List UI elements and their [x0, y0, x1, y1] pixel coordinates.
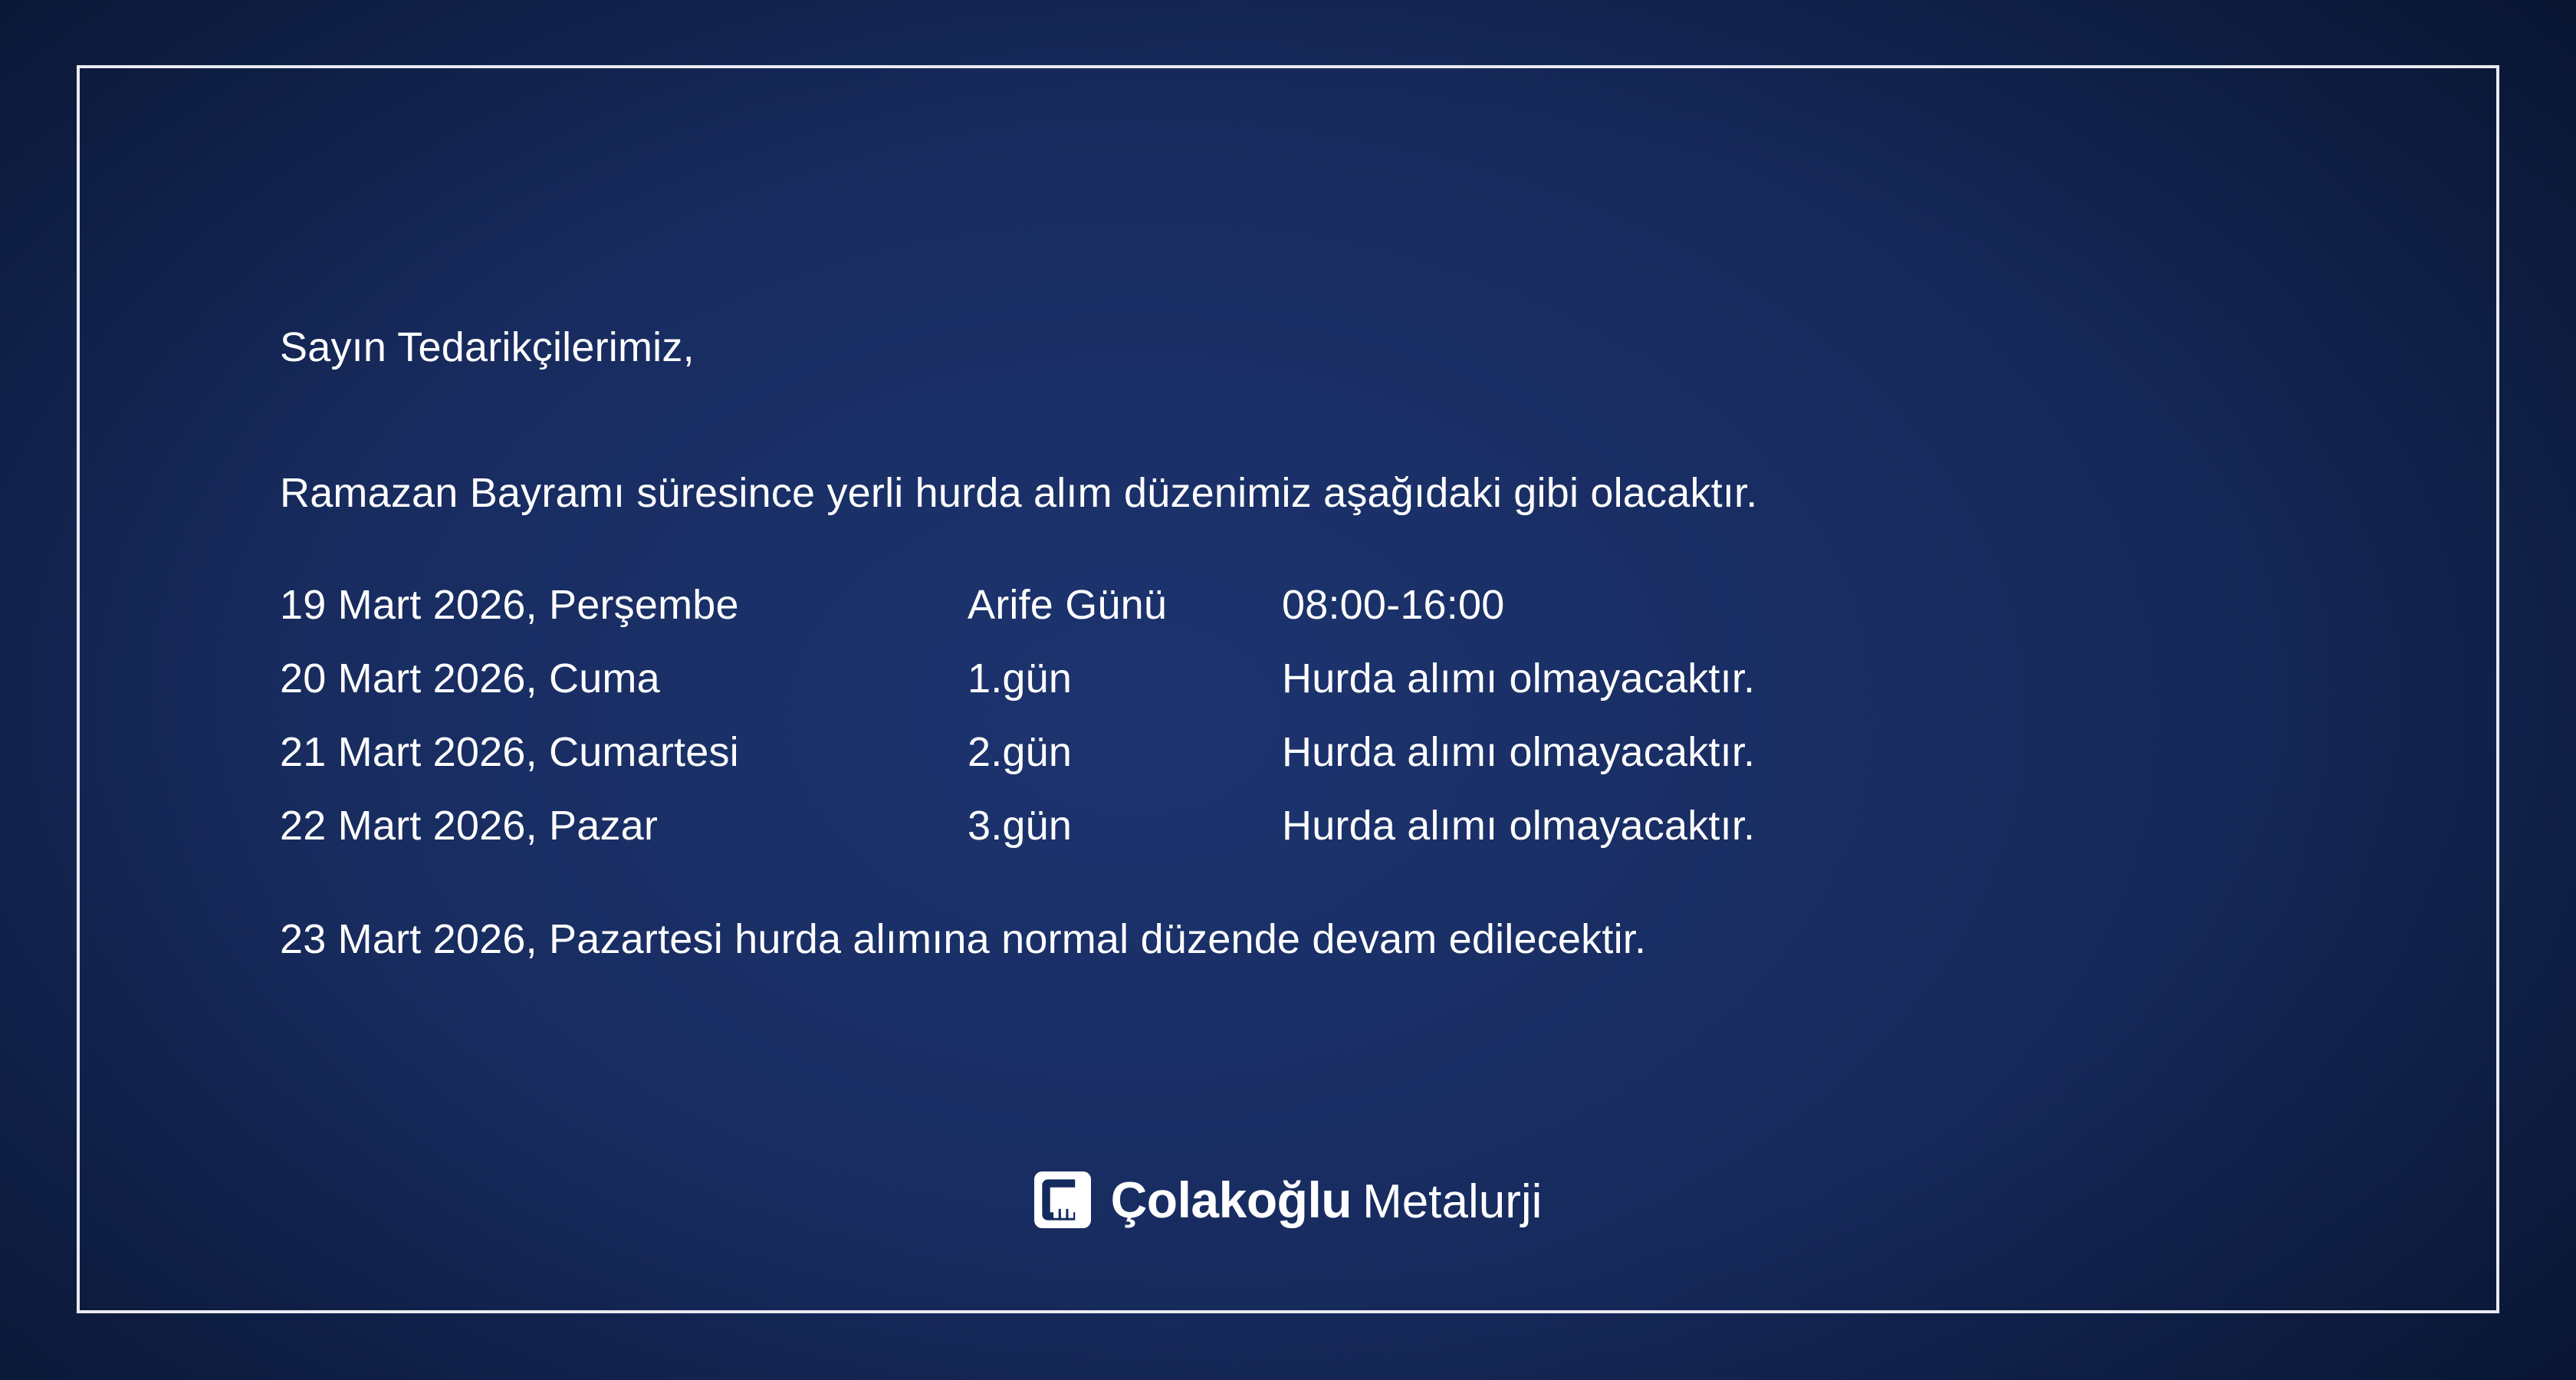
logo-company-subtitle: Metalurji — [1362, 1178, 1542, 1226]
schedule-row-date: 19 Mart 2026, Perşembe — [280, 584, 968, 626]
schedule-row-date: 21 Mart 2026, Cumartesi — [280, 731, 968, 773]
schedule-row-day: Arife Günü — [968, 584, 1282, 626]
schedule-row-day: 1.gün — [968, 658, 1282, 699]
schedule-row-note: 08:00-16:00 — [1282, 584, 1755, 626]
schedule-row-date: 20 Mart 2026, Cuma — [280, 658, 968, 699]
schedule-row-day: 2.gün — [968, 731, 1282, 773]
schedule-row-note: Hurda alımı olmayacaktır. — [1282, 658, 1755, 699]
logo-company-name: Çolakoğlu — [1111, 1175, 1352, 1225]
schedule-row-day: 3.gün — [968, 805, 1282, 846]
company-logo: Çolakoğlu Metalurji — [0, 1171, 2576, 1228]
intro-paragraph: Ramazan Bayramı süresince yerli hurda al… — [280, 469, 1757, 517]
schedule-row-date: 22 Mart 2026, Pazar — [280, 805, 968, 846]
schedule-row-note: Hurda alımı olmayacaktır. — [1282, 805, 1755, 846]
colakoglu-cm-monogram-icon — [1034, 1171, 1091, 1228]
announcement-poster: Sayın Tedarikçilerimiz, Ramazan Bayramı … — [0, 0, 2576, 1380]
holiday-schedule-table: 19 Mart 2026, Perşembe Arife Günü 08:00-… — [280, 584, 1755, 846]
greeting-line: Sayın Tedarikçilerimiz, — [280, 324, 695, 371]
schedule-row-note: Hurda alımı olmayacaktır. — [1282, 731, 1755, 773]
logo-wordmark: Çolakoğlu Metalurji — [1111, 1175, 1543, 1226]
closing-paragraph: 23 Mart 2026, Pazartesi hurda alımına no… — [280, 915, 1646, 963]
